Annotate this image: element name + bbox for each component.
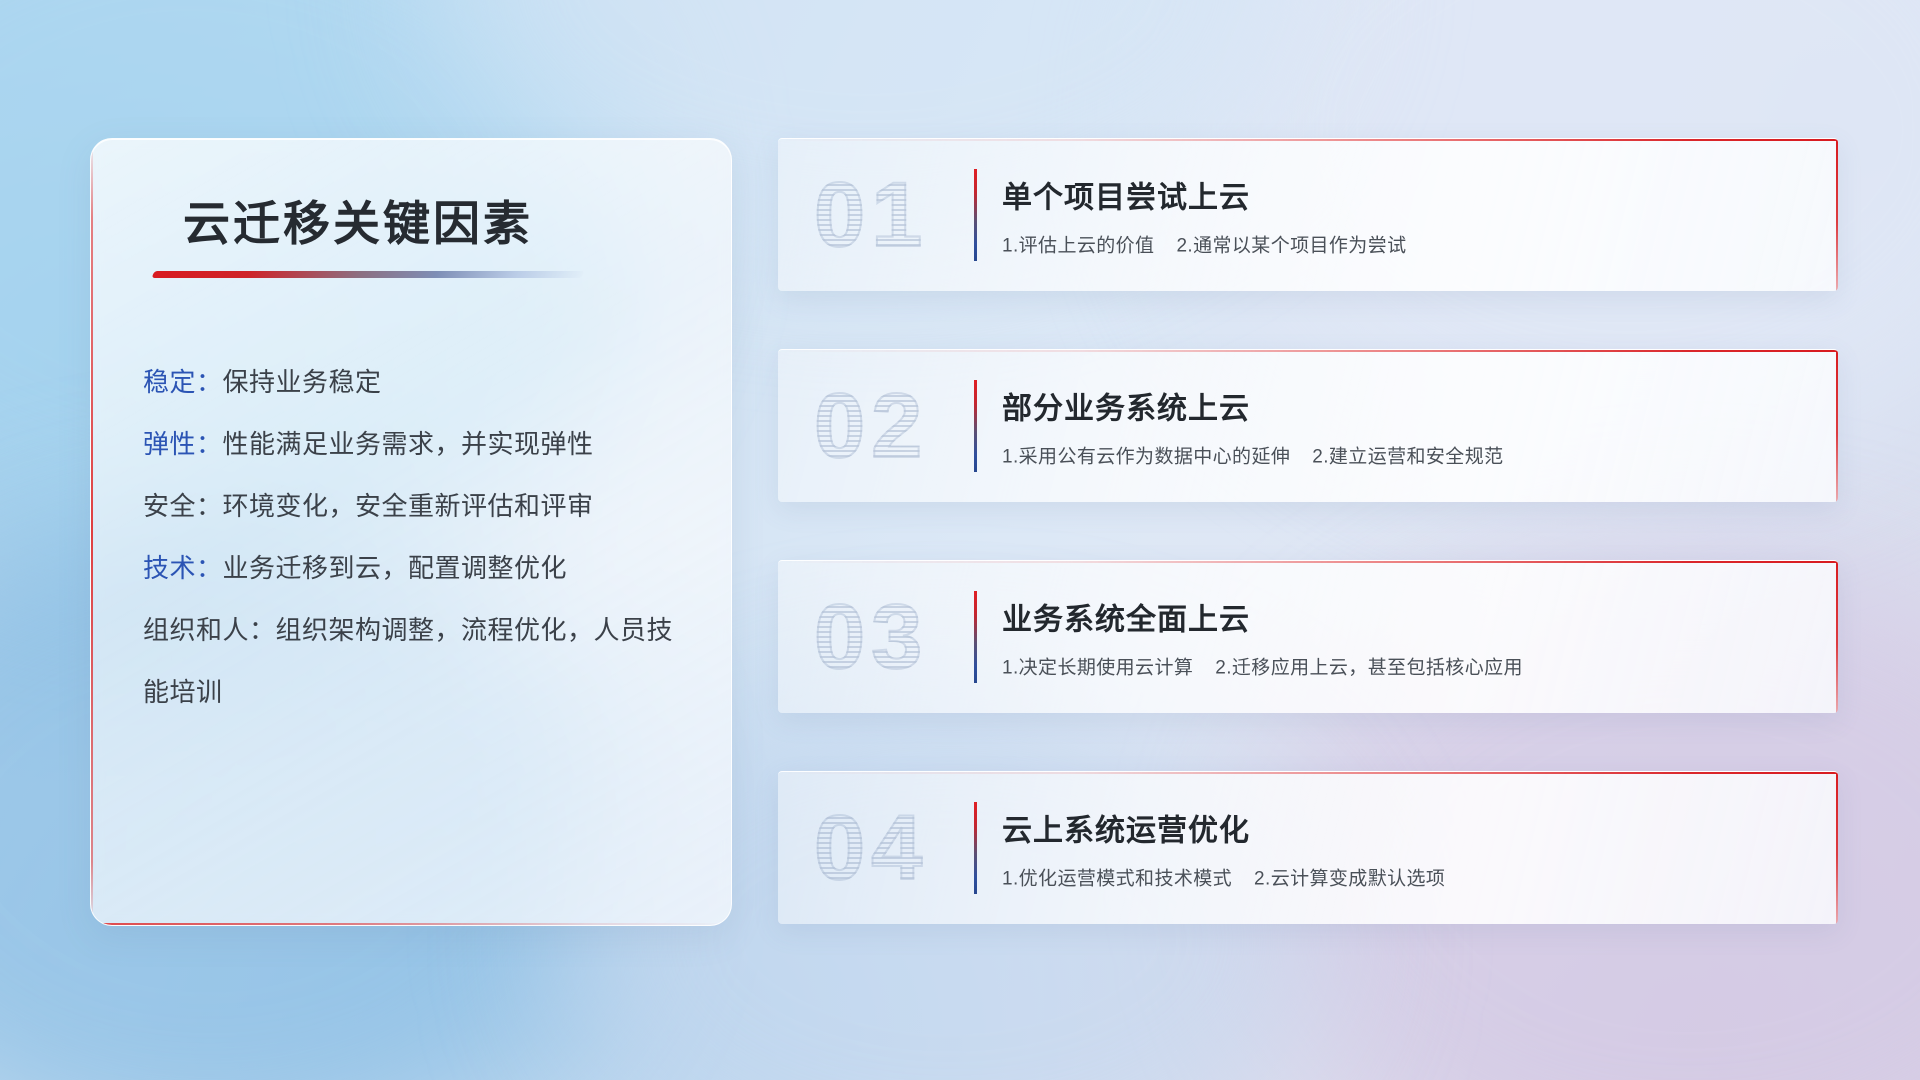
step-title: 业务系统全面上云 (1002, 595, 1798, 639)
step-card-04[interactable]: 04 云上系统运营优化 1.优化运营模式和技术模式2.云计算变成默认选项 (778, 771, 1838, 924)
step-description: 1.采用公有云作为数据中心的延伸2.建立运营和安全规范 (1002, 442, 1798, 469)
step-card-02[interactable]: 02 部分业务系统上云 1.采用公有云作为数据中心的延伸2.建立运营和安全规范 (778, 349, 1838, 502)
step-divider (974, 169, 977, 261)
step-description-part-1: 1.评估上云的价值 (1002, 236, 1154, 257)
step-title: 云上系统运营优化 (1002, 806, 1798, 850)
list-item: 安全：环境变化，安全重新评估和评审 (143, 475, 688, 537)
step-description-part-2: 2.通常以某个项目作为尝试 (1176, 236, 1406, 257)
step-number: 02 (814, 380, 928, 472)
step-divider (974, 802, 977, 894)
step-content: 业务系统全面上云 1.决定长期使用云计算2.迁移应用上云，甚至包括核心应用 (1002, 595, 1798, 680)
step-card-03[interactable]: 03 业务系统全面上云 1.决定长期使用云计算2.迁移应用上云，甚至包括核心应用 (778, 560, 1838, 713)
step-description-part-2: 2.迁移应用上云，甚至包括核心应用 (1215, 658, 1523, 679)
step-title: 单个项目尝试上云 (1002, 173, 1798, 217)
migration-steps-list: 01 单个项目尝试上云 1.评估上云的价值2.通常以某个项目作为尝试 02 部分… (778, 138, 1838, 982)
page-title: 云迁移关键因素 (183, 185, 533, 254)
key-factors-list: 稳定：保持业务稳定 弹性：性能满足业务需求，并实现弹性 安全：环境变化，安全重新… (143, 351, 688, 723)
step-content: 部分业务系统上云 1.采用公有云作为数据中心的延伸2.建立运营和安全规范 (1002, 384, 1798, 469)
list-item-text: 性能满足业务需求，并实现弹性 (223, 429, 594, 459)
list-item: 弹性：性能满足业务需求，并实现弹性 (143, 413, 688, 475)
step-description-part-1: 1.决定长期使用云计算 (1002, 658, 1193, 679)
list-item: 技术：业务迁移到云，配置调整优化 (143, 537, 688, 599)
key-factors-panel: 云迁移关键因素 稳定：保持业务稳定 弹性：性能满足业务需求，并实现弹性 安全：环… (90, 138, 732, 926)
list-item-label: 弹性： (143, 429, 223, 459)
step-card-01[interactable]: 01 单个项目尝试上云 1.评估上云的价值2.通常以某个项目作为尝试 (778, 138, 1838, 291)
list-item-text: 环境变化，安全重新评估和评审 (223, 491, 594, 521)
list-item-label: 安全： (143, 491, 223, 521)
list-item-text: 保持业务稳定 (223, 367, 382, 397)
step-description-part-1: 1.采用公有云作为数据中心的延伸 (1002, 447, 1290, 468)
step-description: 1.优化运营模式和技术模式2.云计算变成默认选项 (1002, 864, 1798, 891)
step-number: 01 (814, 169, 928, 261)
list-item-text: 业务迁移到云，配置调整优化 (223, 553, 568, 583)
step-description-part-1: 1.优化运营模式和技术模式 (1002, 869, 1232, 890)
step-content: 云上系统运营优化 1.优化运营模式和技术模式2.云计算变成默认选项 (1002, 806, 1798, 891)
step-divider (974, 591, 977, 683)
step-description-part-2: 2.云计算变成默认选项 (1254, 869, 1445, 890)
step-content: 单个项目尝试上云 1.评估上云的价值2.通常以某个项目作为尝试 (1002, 173, 1798, 258)
list-item-label: 稳定： (143, 367, 223, 397)
step-description: 1.评估上云的价值2.通常以某个项目作为尝试 (1002, 231, 1798, 258)
step-divider (974, 380, 977, 472)
step-number: 03 (814, 591, 928, 683)
step-title: 部分业务系统上云 (1002, 384, 1798, 428)
list-item: 稳定：保持业务稳定 (143, 351, 688, 413)
step-description: 1.决定长期使用云计算2.迁移应用上云，甚至包括核心应用 (1002, 653, 1798, 680)
title-underline-accent (152, 271, 585, 278)
list-item: 组织和人：组织架构调整，流程优化，人员技能培训 (143, 599, 688, 723)
list-item-label: 组织和人： (143, 615, 276, 645)
list-item-label: 技术： (143, 553, 223, 583)
slide-canvas: 云迁移关键因素 稳定：保持业务稳定 弹性：性能满足业务需求，并实现弹性 安全：环… (0, 0, 1920, 1080)
step-description-part-2: 2.建立运营和安全规范 (1312, 447, 1503, 468)
step-number: 04 (814, 802, 928, 894)
